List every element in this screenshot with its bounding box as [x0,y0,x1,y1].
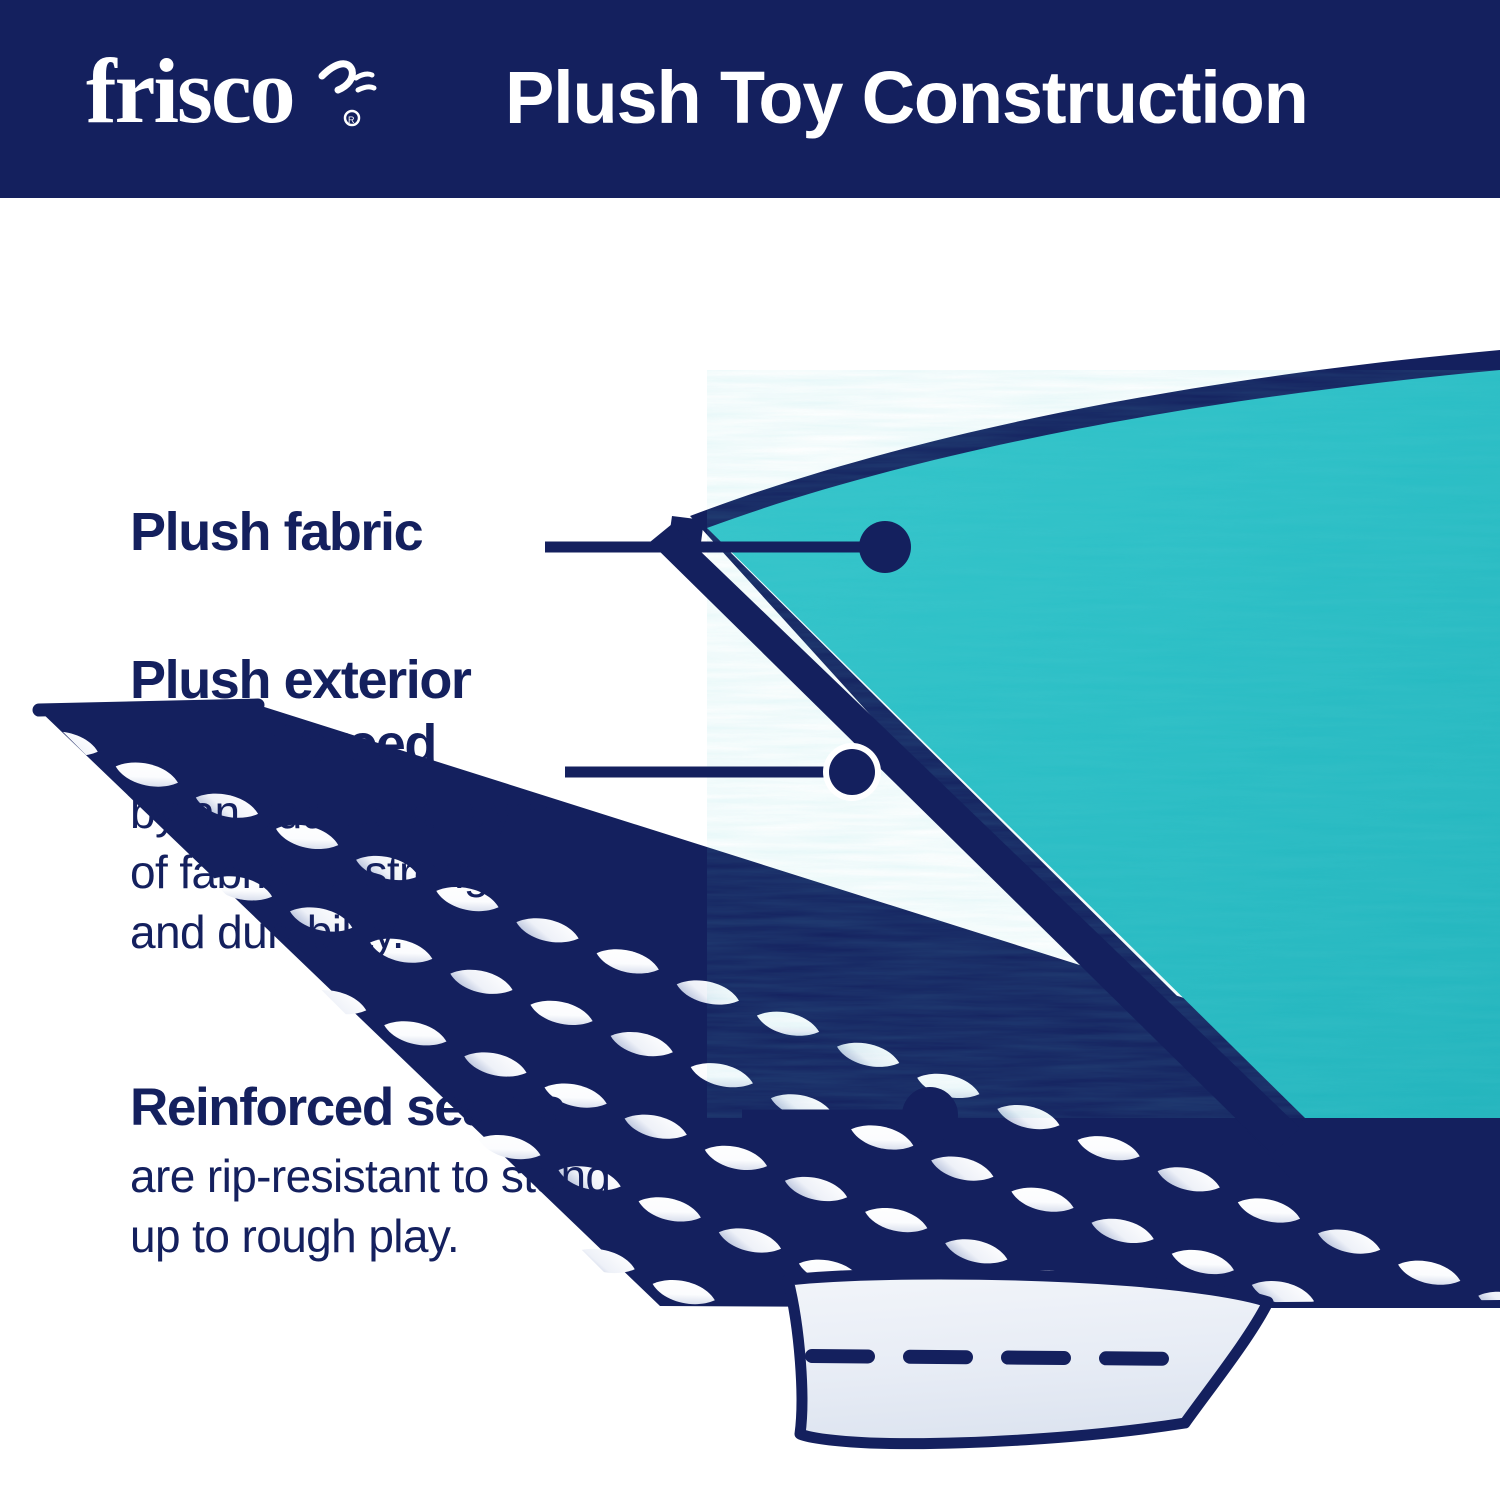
mesh-hole [37,1186,105,1230]
callout-heading-plush-fabric: Plush fabric [130,500,600,564]
mesh-hole [9,1021,77,1065]
mesh-hole [1263,1354,1331,1398]
frisco-logo[interactable]: frisco R [86,46,386,146]
mesh-hole [0,938,62,982]
callout-plush-exterior: Plush exterior is reinforced by an addit… [130,648,730,962]
mesh-hole [664,1353,732,1397]
mesh-hole [0,1073,10,1117]
mesh-hole [730,1301,798,1345]
mesh-hole [437,1342,505,1386]
mesh-hole [277,1280,345,1324]
mesh-hole [75,970,143,1014]
callout-body-reinforced-seams: are rip-resistant to stand up to rough p… [130,1146,790,1266]
page-title: Plush Toy Construction [505,47,1308,149]
mesh-hole [423,1259,491,1303]
mesh-hole [1329,1302,1397,1346]
mesh-hole [0,1155,24,1199]
mesh-hole [1409,1333,1477,1377]
callout-heading-plush-exterior: Plush exterior is reinforced [130,648,730,776]
callout-plush-fabric: Plush fabric [130,500,600,564]
mesh-hole [0,856,48,900]
mesh-hole [47,804,115,848]
mesh-hole [23,1104,91,1148]
mesh-hole [357,1311,425,1355]
mesh-hole [61,887,129,931]
callout-body-plush-exterior: by an additional layer of fabric for str… [130,782,730,962]
callout-dot-plush-fabric [859,521,911,573]
header-bar: frisco R Plush Toy Construction [0,0,1500,198]
callout-reinforced-seams: Reinforced seams are rip-resistant to st… [130,1076,790,1266]
stitch-dashes [812,1356,1195,1359]
mesh-hole [584,1322,652,1366]
callout-heading-reinforced-seams: Reinforced seams [130,1076,790,1140]
mesh-hole [504,1291,572,1335]
mesh-hole [155,1001,223,1045]
callout-dot-reinforced-seams [902,1087,958,1143]
svg-text:R: R [348,115,355,125]
seam-flap [788,1274,1268,1444]
mesh-hole [1490,1365,1500,1409]
mesh-hole [518,1373,586,1417]
svg-text:frisco: frisco [86,46,294,142]
mesh-hole [235,1032,303,1076]
